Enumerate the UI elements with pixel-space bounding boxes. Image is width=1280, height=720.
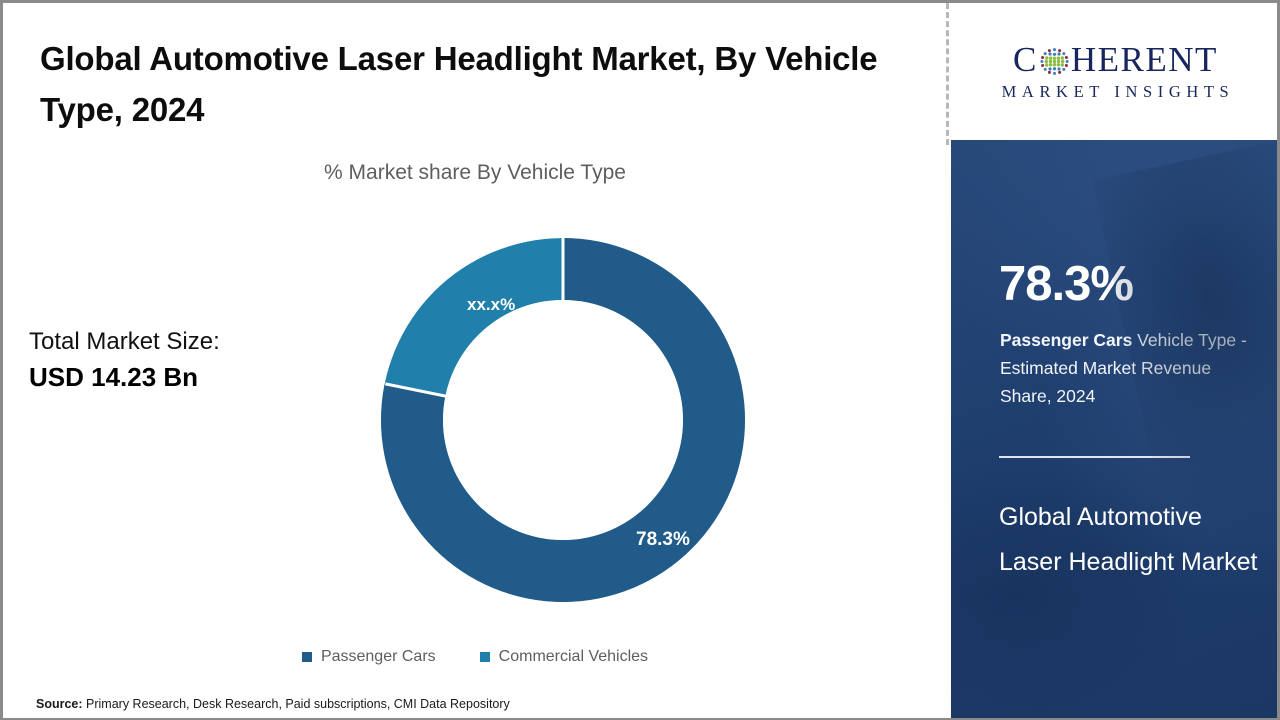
total-market-size-value: USD 14.23 Bn	[29, 359, 329, 395]
logo-wordmark: C	[1013, 42, 1218, 77]
infographic-page: Global Automotive Laser Headlight Market…	[0, 0, 1280, 720]
panel-market-name: Global Automotive Laser Headlight Market	[999, 495, 1267, 585]
legend-item-commercial-vehicles[interactable]: Commercial Vehicles	[480, 648, 648, 666]
right-sidebar: C	[951, 3, 1280, 720]
main-content-area: Global Automotive Laser Headlight Market…	[3, 3, 947, 718]
source-label: Source:	[36, 697, 83, 711]
legend-swatch-icon-passenger-cars	[302, 652, 312, 662]
stat-panel: 78.3% Passenger Cars Vehicle Type - Esti…	[951, 140, 1280, 720]
brand-logo: C	[951, 3, 1280, 140]
logo-wordmark-right: HERENT	[1071, 42, 1218, 77]
chart-legend: Passenger Cars Commercial Vehicles	[3, 648, 947, 666]
stat-percent-value: 78.3%	[999, 260, 1133, 309]
donut-hole	[443, 300, 683, 540]
logo-tagline: MARKET INSIGHTS	[997, 82, 1235, 102]
vertical-dashed-divider	[946, 3, 949, 145]
logo-wordmark-left: C	[1013, 42, 1038, 77]
legend-label-commercial-vehicles: Commercial Vehicles	[499, 648, 648, 666]
donut-label-commercial-vehicles: xx.x%	[467, 295, 515, 314]
donut-label-passenger-cars: 78.3%	[636, 529, 690, 550]
source-text: Primary Research, Desk Research, Paid su…	[83, 697, 510, 711]
panel-horizontal-divider	[999, 456, 1190, 458]
donut-chart-svg: xx.x% 78.3%	[381, 238, 745, 602]
total-market-size-label: Total Market Size:	[29, 325, 329, 359]
chart-subtitle: % Market share By Vehicle Type	[3, 161, 947, 185]
stat-description: Passenger Cars Vehicle Type - Estimated …	[1000, 326, 1248, 410]
globe-icon	[1039, 46, 1070, 77]
legend-label-passenger-cars: Passenger Cars	[321, 648, 436, 666]
source-line: Source: Primary Research, Desk Research,…	[36, 697, 510, 711]
donut-chart: xx.x% 78.3%	[381, 238, 745, 602]
legend-item-passenger-cars[interactable]: Passenger Cars	[302, 648, 436, 666]
total-market-size-block: Total Market Size: USD 14.23 Bn	[29, 325, 329, 395]
page-title: Global Automotive Laser Headlight Market…	[40, 33, 885, 135]
stat-description-strong: Passenger Cars	[1000, 330, 1132, 350]
legend-swatch-icon-commercial-vehicles	[480, 652, 490, 662]
